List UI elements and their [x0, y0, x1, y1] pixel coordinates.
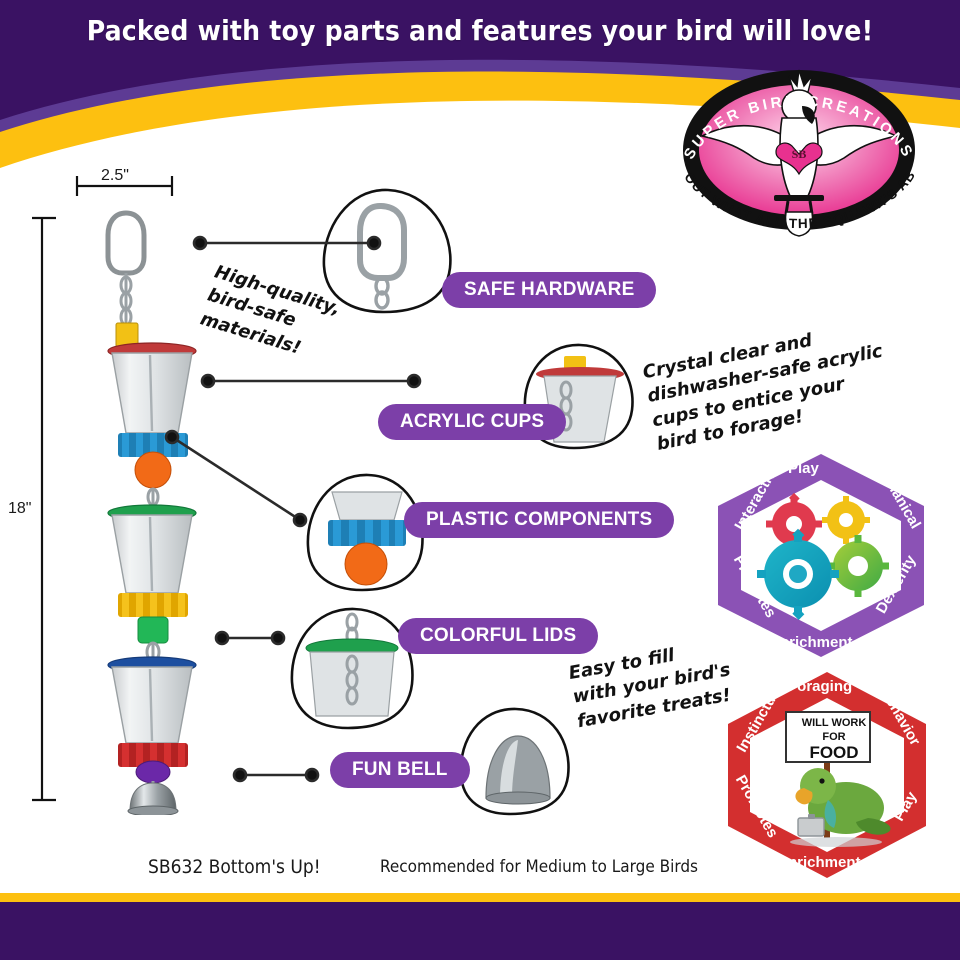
- badge-fun-bell[interactable]: FUN BELL: [330, 752, 470, 788]
- header-title: Packed with toy parts and features your …: [0, 14, 960, 47]
- product-recommendation: Recommended for Medium to Large Birds: [380, 857, 698, 877]
- badge-colorful-lids[interactable]: COLORFUL LIDS: [398, 618, 598, 654]
- hex-purple-label-bottom: Enrichment: [770, 634, 853, 651]
- badge-plastic-components[interactable]: PLASTIC COMPONENTS: [404, 502, 674, 538]
- hex-red-label-top: Foraging: [788, 678, 852, 695]
- infographic-canvas: Packed with toy parts and features your …: [0, 0, 960, 960]
- footer-gold-rule: [0, 893, 960, 902]
- badge-acrylic-cups[interactable]: ACRYLIC CUPS: [378, 404, 566, 440]
- hex-badge-play-enrichment: Play Mechanical Dexterity Enrichment Pro…: [706, 448, 936, 663]
- hex-red-label-bottom: Enrichment: [778, 854, 861, 871]
- logo-heart-monogram: SB: [792, 147, 807, 161]
- badge-safe-hardware[interactable]: SAFE HARDWARE: [442, 272, 656, 308]
- hex-badge-foraging: WILL WORK FOR FOOD Foraging Behavior Pla…: [716, 668, 938, 884]
- product-sku-name: SB632 Bottom's Up!: [148, 856, 321, 878]
- sign-line-1: WILL WORK: [794, 717, 874, 729]
- brand-logo: SB SUPER BIRD CREATIONS FIND OUT WHAT AL…: [668, 62, 930, 247]
- sign-line-3: FOOD: [794, 743, 874, 763]
- hex-purple-label-top: Play: [788, 460, 819, 477]
- footer-band: [0, 902, 960, 960]
- sign-line-2: FOR: [794, 731, 874, 743]
